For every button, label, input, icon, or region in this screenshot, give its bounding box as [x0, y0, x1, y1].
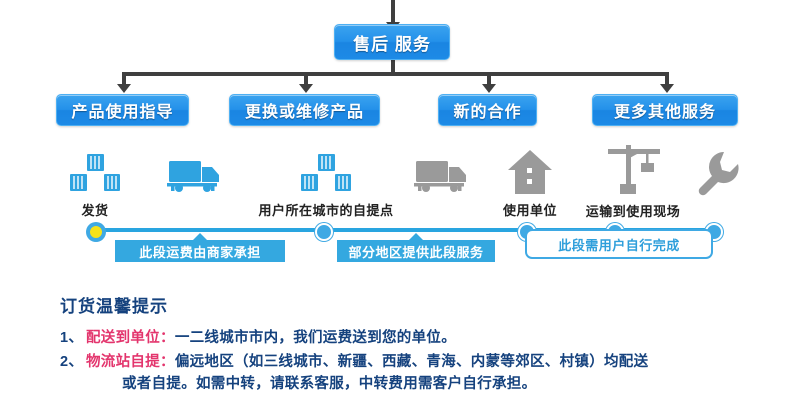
arrow-branch-2: [299, 84, 313, 93]
wrench-icon: [694, 150, 742, 196]
connector-bus: [122, 72, 668, 76]
node-child-4[interactable]: 更多其他服务: [592, 94, 738, 126]
note-body-text: 一二线城市市内，我们运费送到您的单位。: [175, 330, 456, 346]
stage-pickup-point: 用户所在城市的自提点: [248, 152, 404, 219]
note-body-text: 偏远地区（如三线城市、新疆、西藏、青海、内蒙等郊区、村镇）均配送: [175, 354, 649, 370]
stage-use-unit: 使用单位: [496, 148, 564, 219]
stage-caption: 用户所在城市的自提点: [258, 200, 393, 219]
timeline-dot-start: [87, 223, 105, 241]
notes-title: 订货温馨提示: [60, 292, 760, 317]
note-item: 2、 物流站自提：偏远地区（如三线城市、新疆、西藏、青海、内蒙等郊区、村镇）均配…: [60, 351, 760, 373]
connector-root-top: [391, 0, 395, 24]
timeline-segment-label: 此段需用户自行完成: [558, 235, 680, 254]
stage-caption: 使用单位: [503, 200, 557, 219]
arrow-branch-3: [482, 84, 496, 93]
stage-installation: [690, 150, 746, 200]
house-icon: [506, 148, 554, 196]
note-number: 1、: [60, 327, 86, 349]
arrow-branch-4: [660, 84, 674, 93]
note-item: 1、 配送到单位：一二线城市市内，我们运费送到您的单位。: [60, 327, 760, 349]
node-root[interactable]: 售后 服务: [334, 24, 450, 60]
truck-icon: [167, 155, 227, 195]
stage-transit-2: [412, 155, 476, 199]
stage-transit-1: [165, 155, 229, 199]
boxes-icon: [299, 152, 353, 196]
note-text: 配送到单位：一二线城市市内，我们运费送到您的单位。: [86, 327, 456, 349]
timeline-segment-label: 部分地区提供此段服务: [348, 242, 483, 261]
note-highlight: 配送到单位：: [86, 330, 175, 346]
stage-caption: 运输到使用现场: [586, 201, 681, 220]
note-text: 物流站自提：偏远地区（如三线城市、新疆、西藏、青海、内蒙等郊区、村镇）均配送: [86, 351, 648, 373]
note-continuation-text: 或者自提。如需中转，请联系客服，中转费用需客户自行承担。: [122, 373, 536, 395]
boxes-icon: [68, 152, 122, 196]
node-child-2[interactable]: 更换或维修产品: [229, 94, 380, 126]
infographic-root: 售后 服务 产品使用指导 更换或维修产品 新的合作 更多其他服务 发货: [0, 0, 790, 412]
note-highlight: 物流站自提：: [86, 354, 175, 370]
timeline-dot-2: [315, 223, 333, 241]
stage-caption: 发货: [81, 200, 108, 219]
timeline-segment-2: 部分地区提供此段服务: [337, 240, 495, 262]
arrow-branch-1: [117, 84, 131, 93]
timeline-segment-label: 此段运费由商家承担: [139, 242, 261, 261]
notes-section: 订货温馨提示 1、 配送到单位：一二线城市市内，我们运费送到您的单位。 2、 物…: [60, 292, 760, 395]
node-child-3[interactable]: 新的合作: [438, 94, 537, 126]
timeline-segment-1: 此段运费由商家承担: [115, 240, 285, 262]
note-number: 2、: [60, 351, 86, 373]
stage-shipping: 发货: [62, 152, 128, 219]
timeline-segment-3: 此段需用户自行完成: [525, 229, 713, 259]
note-continuation: 或者自提。如需中转，请联系客服，中转费用需客户自行承担。: [60, 373, 760, 395]
crane-icon: [602, 145, 664, 197]
truck-icon: [414, 155, 474, 195]
stage-site-delivery: 运输到使用现场: [575, 145, 691, 220]
node-child-1[interactable]: 产品使用指导: [56, 94, 189, 126]
